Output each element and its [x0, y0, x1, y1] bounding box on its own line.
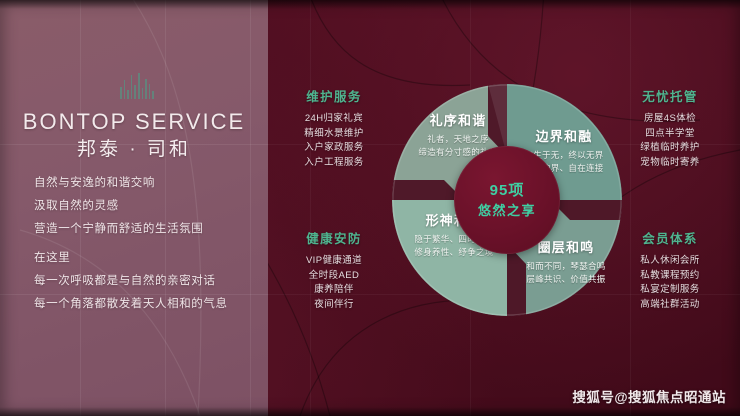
diagram-label-title: 礼序和谐 [398, 110, 518, 129]
service-item: 宠物临时寄养 [618, 156, 722, 171]
hero-line: 每一次呼吸都是与自然的亲密对话 [34, 274, 264, 289]
bontop-bars-logo-icon [120, 73, 154, 99]
diagram-label-sub: 层峰共识、价值共振 [506, 273, 626, 286]
watermark-text: 搜狐号@搜狐焦点昭通站 [572, 386, 726, 406]
service-group-membership: 会员体系 私人休闲会所 私教课程预约 私宴定制服务 高端社群活动 [618, 228, 722, 312]
diagram-label-sub: 礼者，天地之序 [398, 133, 518, 146]
service-group-title: 健康安防 [282, 228, 386, 247]
diagram-core-label: 悠然之享 [478, 201, 536, 220]
service-item: 高端社群活动 [618, 298, 722, 313]
service-item: 绿植临时养护 [618, 141, 722, 156]
top-edge-shadow [0, 0, 740, 9]
service-item: 入户家政服务 [282, 141, 386, 156]
service-item: 四点半学堂 [618, 127, 722, 142]
hero-line: 汲取自然的灵感 [34, 199, 264, 214]
service-group-maintenance: 维护服务 24H归家礼宾 精细水景维护 入户家政服务 入户工程服务 [282, 86, 386, 170]
service-item: VIP健康通道 [282, 254, 386, 269]
service-group-title: 维护服务 [282, 86, 386, 105]
service-item: 私教课程预约 [618, 269, 722, 284]
hero-line: 自然与安逸的和谐交响 [34, 176, 264, 191]
hero-line: 在这里 [34, 251, 264, 266]
service-group-title: 无忧托管 [618, 86, 722, 105]
central-diagram: 礼序和谐 礼者，天地之序 缔造有分寸感的礼仪 边界和融 有生于无，终以无界 打破… [392, 84, 622, 316]
service-item: 夜间伴行 [282, 298, 386, 313]
diagram-core-count: 95项 [490, 181, 525, 201]
diagram-label-title: 边界和融 [504, 126, 624, 145]
service-item: 房屋4S体检 [618, 112, 722, 127]
service-item: 24H归家礼宾 [282, 112, 386, 127]
service-item: 康养陪伴 [282, 283, 386, 298]
hero-title-en: BONTOP SERVICE [0, 109, 268, 135]
bottom-edge-shadow [0, 407, 740, 416]
service-item: 精细水景维护 [282, 127, 386, 142]
diagram-label-sub: 和而不同，琴瑟合鸣 [506, 260, 626, 273]
service-item: 私宴定制服务 [618, 283, 722, 298]
service-item: 入户工程服务 [282, 156, 386, 171]
service-item: 全时段AED [282, 269, 386, 284]
hero-line: 营造一个宁静而舒适的生活氛围 [34, 222, 264, 237]
service-group-title: 会员体系 [618, 228, 722, 247]
hero-title-cn: 邦泰 · 司和 [0, 134, 268, 161]
hero-panel: BONTOP SERVICE 邦泰 · 司和 自然与安逸的和谐交响 汲取自然的灵… [0, 0, 268, 416]
slide-canvas: BONTOP SERVICE 邦泰 · 司和 自然与安逸的和谐交响 汲取自然的灵… [0, 0, 740, 416]
service-group-health-security: 健康安防 VIP健康通道 全时段AED 康养陪伴 夜间伴行 [282, 228, 386, 312]
service-item: 私人休闲会所 [618, 254, 722, 269]
diagram-core-badge: 95项 悠然之享 [454, 146, 560, 254]
hero-line: 每一个角落都散发着天人相和的气息 [34, 297, 264, 312]
hero-description: 自然与安逸的和谐交响 汲取自然的灵感 营造一个宁静而舒适的生活氛围 在这里 每一… [34, 176, 264, 320]
service-group-carefree-custody: 无忧托管 房屋4S体检 四点半学堂 绿植临时养护 宠物临时寄养 [618, 86, 722, 170]
